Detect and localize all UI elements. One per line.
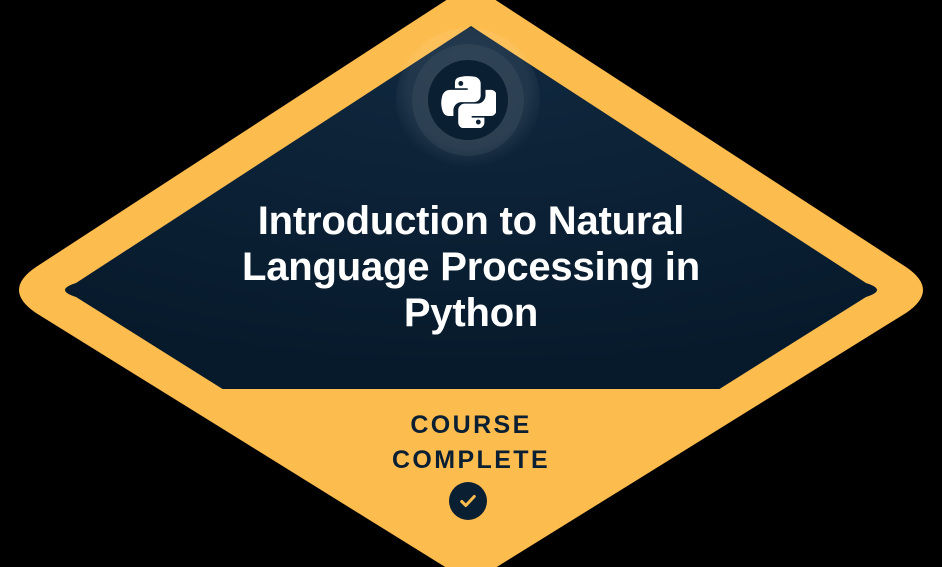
diamond-inner-navy-panel bbox=[0, 0, 942, 389]
diamond-badge-shape bbox=[0, 0, 942, 567]
course-completion-badge: Introduction to Natural Language Process… bbox=[0, 0, 942, 567]
